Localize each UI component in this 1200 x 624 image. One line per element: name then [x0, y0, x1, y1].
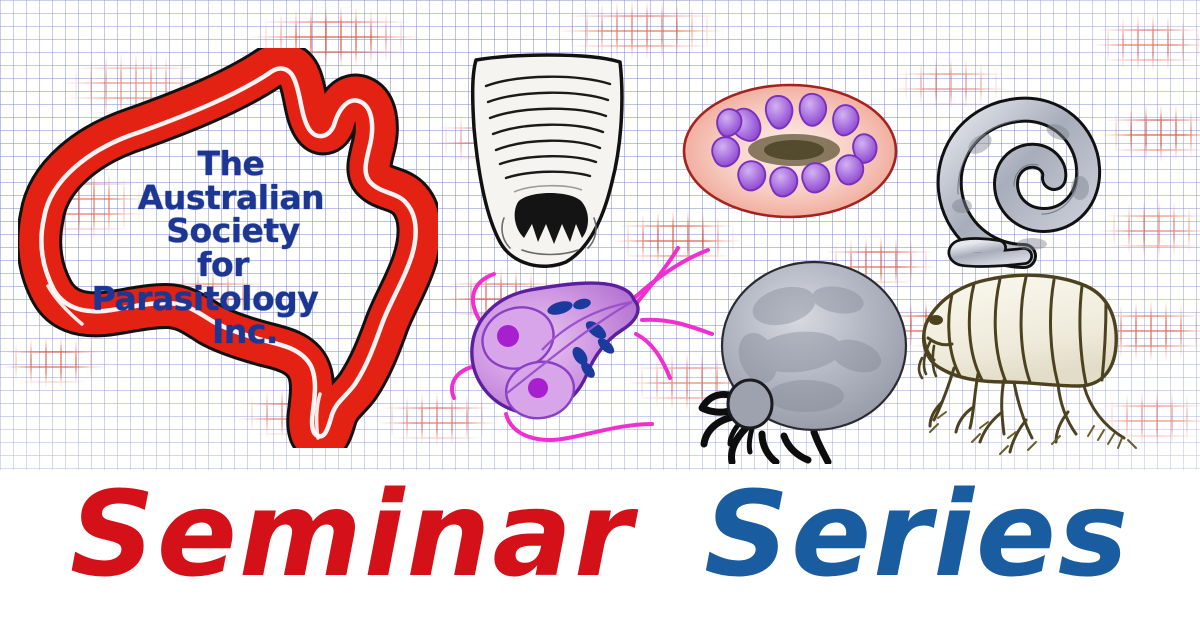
engorged-tick-illustration [688, 248, 914, 464]
flea-illustration [908, 262, 1144, 466]
title-word-seminar: Seminar [70, 475, 634, 593]
hookworm-illustration [462, 52, 638, 268]
title-word-series: Series [704, 475, 1130, 593]
asp-logo: The Australian Society for Parasitology … [18, 48, 438, 448]
giardia-trophozoite-illustration [446, 238, 714, 462]
seminar-series-banner: The Australian Society for Parasitology … [0, 0, 1200, 624]
coiled-nematode-illustration [928, 48, 1124, 282]
red-grid-patch [556, 0, 726, 60]
australia-map-shape [18, 48, 438, 448]
banner-title: Seminar Series [0, 444, 1200, 624]
plasmodium-schizont-illustration [678, 78, 902, 224]
